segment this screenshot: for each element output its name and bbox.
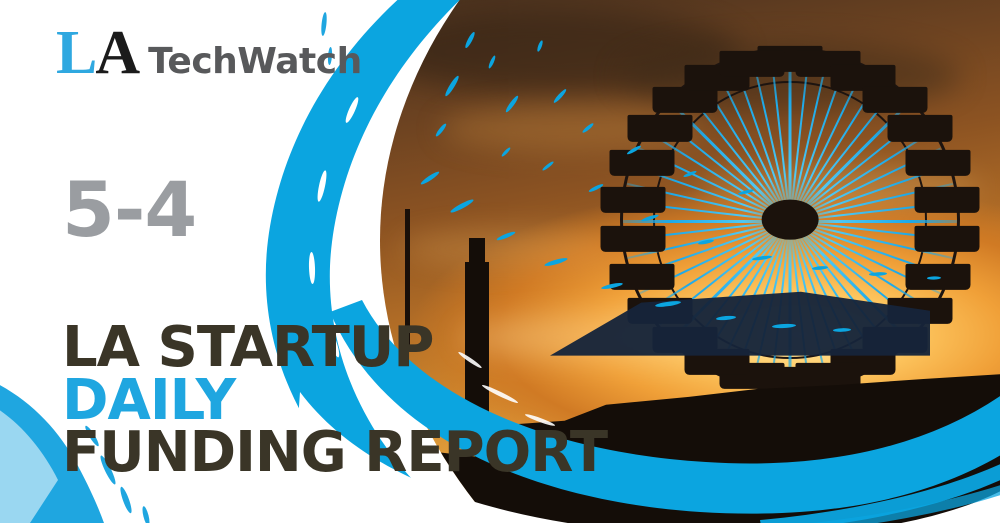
ferris-wheel-car (914, 226, 979, 252)
corner-brush-gap (0, 404, 58, 523)
ferris-wheel-car (914, 187, 979, 213)
logo-letter-l: L (56, 22, 95, 84)
ferris-wheel-car (601, 226, 666, 252)
page-title: LA STARTUP DAILY FUNDING REPORT (62, 322, 607, 480)
logo-wordmark: TechWatch (148, 44, 362, 80)
ferris-wheel-car (905, 263, 970, 289)
ferris-wheel-car (601, 187, 666, 213)
la-techwatch-funding-report-banner: L A TechWatch 5-4 LA STARTUP DAILY FUNDI… (0, 0, 1000, 523)
ferris-wheel-car (610, 263, 675, 289)
date-label: 5-4 (62, 172, 196, 248)
ferris-wheel-car (627, 115, 692, 141)
ferris-wheel-hub (762, 199, 819, 240)
ferris-wheel-car (862, 86, 927, 112)
logo[interactable]: L A TechWatch (56, 22, 362, 84)
headline-line-1: LA STARTUP (62, 322, 607, 375)
ferris-wheel-car (610, 150, 675, 176)
logo-letter-a: A (95, 22, 140, 84)
ferris-wheel-car (905, 150, 970, 176)
cloud (400, 230, 620, 267)
ferris-wheel-car (888, 115, 953, 141)
ferris-wheel-car (720, 51, 785, 77)
headline-line-3: FUNDING REPORT (62, 427, 607, 480)
